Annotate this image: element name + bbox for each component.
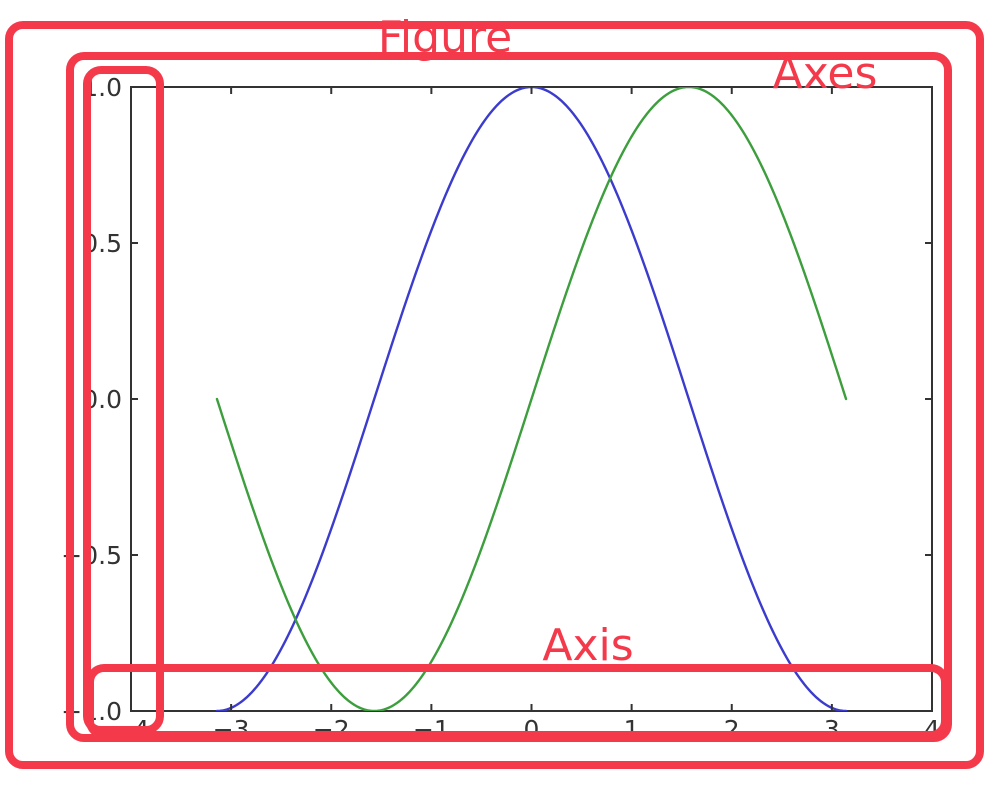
axes-annotation-label: Axes	[773, 48, 878, 99]
figure-annotation-label: Figure	[378, 12, 512, 63]
axis-annotation-label: Axis	[542, 620, 633, 671]
figure-anatomy-diagram: −4−3−2−101234 −1.0−0.50.00.51.0 Figure A…	[0, 0, 998, 792]
matplotlib-anatomy-figure: −4−3−2−101234 −1.0−0.50.00.51.0 Figure A…	[0, 0, 998, 792]
